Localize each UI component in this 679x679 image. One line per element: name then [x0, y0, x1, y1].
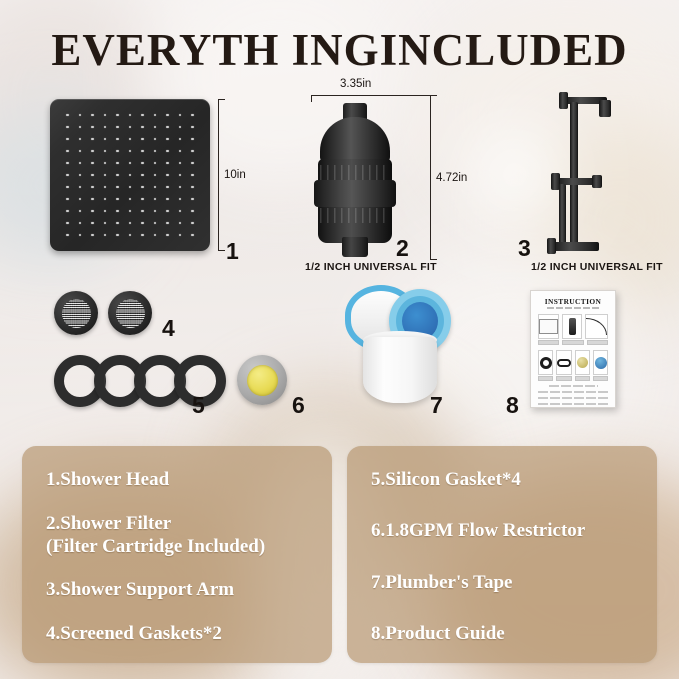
product-number-7: 7	[430, 392, 443, 419]
guide-paragraph-4	[538, 403, 608, 405]
dimension-label-filter-height: 4.72in	[436, 172, 467, 184]
legend-item-4: 4.Screened Gaskets*2	[46, 622, 308, 645]
dimension-bracket-filter-height	[430, 95, 431, 260]
legend-item-8: 8.Product Guide	[371, 622, 633, 645]
dimension-bracket-shower-head	[218, 99, 219, 251]
guide-step-captions-top	[538, 340, 608, 345]
product-image-product-guide: INSTRUCTION	[530, 290, 616, 408]
legend-item-3: 3.Shower Support Arm	[46, 578, 308, 601]
guide-step-row-bottom	[538, 350, 608, 375]
legend-item-7: 7.Plumber's Tape	[371, 571, 633, 594]
product-image-screened-gasket-a	[54, 291, 98, 335]
product-number-6: 6	[292, 392, 305, 419]
caption-filter-fit: 1/2 INCH UNIVERSAL FIT	[305, 261, 437, 273]
guide-step-row-top	[538, 314, 608, 339]
page-title: EVERYTH INGINCLUDED	[0, 24, 679, 76]
product-image-shower-filter	[310, 103, 400, 255]
guide-step-captions-bottom	[538, 376, 608, 381]
guide-paragraph-3	[538, 397, 608, 399]
legend-panel-right: 5.Silicon Gasket*4 6.1.8GPM Flow Restric…	[347, 446, 657, 663]
product-number-3: 3	[518, 235, 531, 262]
product-number-5: 5	[192, 392, 205, 419]
legend-item-2: 2.Shower Filter (Filter Cartridge Includ…	[46, 512, 308, 558]
legend-panel-left: 1.Shower Head 2.Shower Filter (Filter Ca…	[22, 446, 332, 663]
guide-title: INSTRUCTION	[538, 297, 608, 306]
product-image-shower-head	[50, 99, 210, 251]
product-number-1: 1	[226, 238, 239, 265]
guide-subtitle-lines	[547, 307, 599, 309]
legend-item-5: 5.Silicon Gasket*4	[371, 468, 633, 491]
legend-item-6: 6.1.8GPM Flow Restrictor	[371, 519, 633, 542]
product-image-support-arm	[537, 92, 627, 254]
dimension-label-filter-width: 3.35in	[340, 78, 371, 90]
caption-arm-fit: 1/2 INCH UNIVERSAL FIT	[531, 261, 663, 273]
guide-paragraph-1	[549, 385, 598, 387]
product-number-4: 4	[162, 315, 175, 342]
product-image-screened-gasket-b	[108, 291, 152, 335]
infographic-canvas: EVERYTH INGINCLUDED 10in 1 3.35in 4.72in	[0, 0, 679, 679]
dimension-bracket-filter-width	[311, 95, 431, 96]
nozzle-grid	[61, 109, 199, 241]
product-image-plumbers-tape	[345, 285, 455, 407]
product-number-8: 8	[506, 392, 519, 419]
product-image-flow-restrictor	[237, 355, 287, 405]
legend-item-1: 1.Shower Head	[46, 468, 308, 491]
guide-paragraph-2	[538, 391, 608, 393]
dimension-label-shower-head-height: 10in	[224, 169, 246, 181]
product-number-2: 2	[396, 235, 409, 262]
